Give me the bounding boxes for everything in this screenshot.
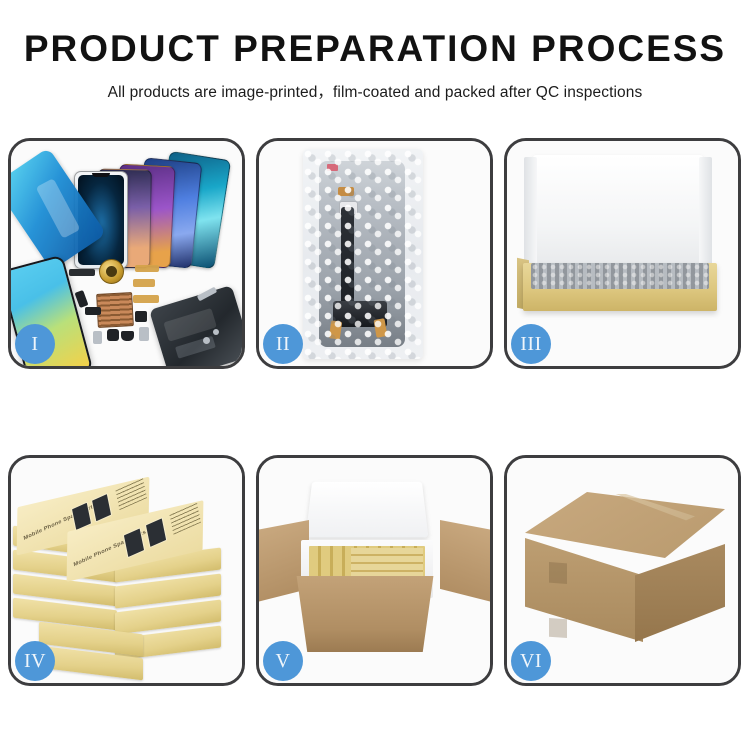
process-step-grid: I II <box>8 138 742 686</box>
coil-component <box>99 259 124 284</box>
part-bar-1 <box>69 269 95 276</box>
box-screen-print-2 <box>91 493 112 523</box>
page-subtitle: All products are image-printed，film-coat… <box>0 80 750 102</box>
bubble-wrapped-contents <box>531 263 709 289</box>
carton-body <box>289 576 441 652</box>
carton-hand-hole-2 <box>549 618 567 638</box>
flex-cable-3 <box>133 295 159 303</box>
phone-notch <box>92 173 110 177</box>
step-badge-iv: IV <box>15 641 55 681</box>
carton-flap-right <box>440 520 492 602</box>
step-badge-vi: VI <box>511 641 551 681</box>
carton-front-face <box>525 538 643 642</box>
box-screen-print-4 <box>145 517 167 548</box>
carton-side-face <box>635 544 725 642</box>
process-step-card-i[interactable]: I <box>8 138 245 369</box>
process-step-card-iv[interactable]: Mobile Phone Spare Parts Mobile Phone Sp… <box>8 455 245 686</box>
foam-box-lid-open <box>306 482 429 538</box>
part-connector-2 <box>85 307 101 315</box>
carton-hand-hole-1 <box>549 562 567 584</box>
header: PRODUCT PREPARATION PROCESS All products… <box>0 0 750 102</box>
bubble-wrap-bag <box>303 149 423 359</box>
flex-cable-2 <box>133 279 155 287</box>
white-foam-lid <box>533 155 703 273</box>
process-step-card-vi[interactable]: VI <box>504 455 741 686</box>
part-speaker <box>121 331 134 341</box>
step-badge-v: V <box>263 641 303 681</box>
process-step-card-ii[interactable]: II <box>256 138 493 369</box>
flex-cable-1 <box>135 265 159 272</box>
box-text-lines-rear <box>115 477 147 510</box>
screw-2 <box>213 329 219 335</box>
part-connector-3 <box>135 311 147 322</box>
part-connector-1 <box>75 290 89 308</box>
step-badge-ii: II <box>263 324 303 364</box>
screw-1 <box>203 337 210 344</box>
part-metal-1 <box>93 331 102 344</box>
part-connector-4 <box>107 329 119 341</box>
process-step-card-iii[interactable]: III <box>504 138 741 369</box>
box-text-lines-front <box>169 502 201 535</box>
page-title: PRODUCT PREPARATION PROCESS <box>0 30 750 67</box>
phone-screen-fan <box>69 155 239 273</box>
bubble-highlights <box>303 149 423 359</box>
process-step-card-v[interactable]: V <box>256 455 493 686</box>
part-metal-2 <box>139 327 149 341</box>
step-badge-iii: III <box>511 324 551 364</box>
copper-grid-chip <box>96 292 134 328</box>
infographic-page: PRODUCT PREPARATION PROCESS All products… <box>0 0 750 750</box>
step-badge-i: I <box>15 324 55 364</box>
